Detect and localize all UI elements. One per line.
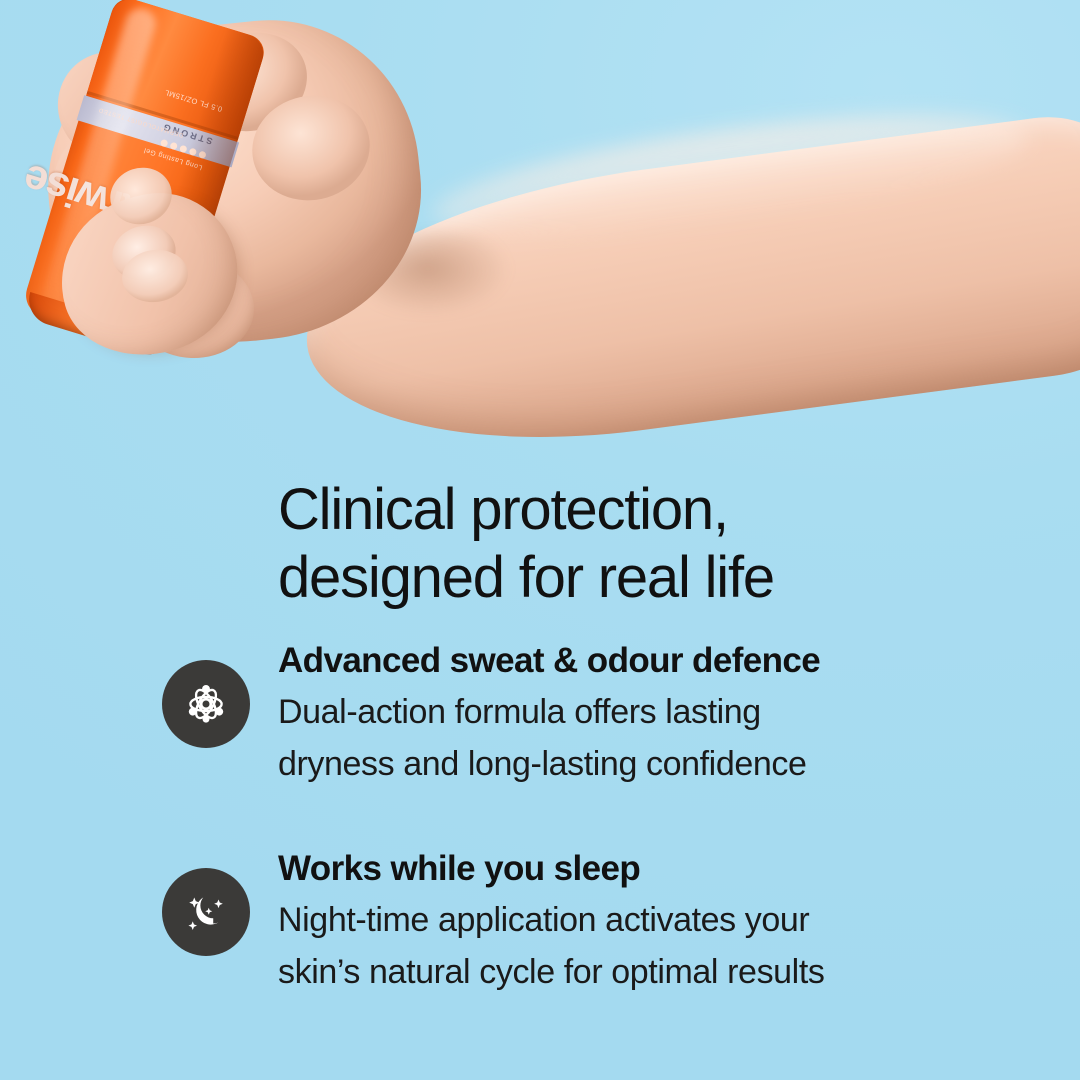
feature-description: Night-time application activates your sk… [278,894,824,998]
feature-title: Advanced sweat & odour defence [278,640,820,682]
feature-title: Works while you sleep [278,848,824,890]
hero-product-photo: STRONG polarwise sweat- stopping armor r… [0,0,1080,400]
feature-description: Dual-action formula offers lasting dryne… [278,686,820,790]
page-title: Clinical protection, designed for real l… [278,476,1038,612]
feature-text: Works while you sleep Night-time applica… [278,848,824,998]
feature-text: Advanced sweat & odour defence Dual-acti… [278,640,820,790]
moon-stars-icon [162,868,250,956]
feature-item-sweat-defence: Advanced sweat & odour defence Dual-acti… [162,640,1042,790]
product-feature-card: STRONG polarwise sweat- stopping armor r… [0,0,1080,1080]
atom-icon [162,660,250,748]
feature-item-works-while-you-sleep: Works while you sleep Night-time applica… [162,848,1042,998]
